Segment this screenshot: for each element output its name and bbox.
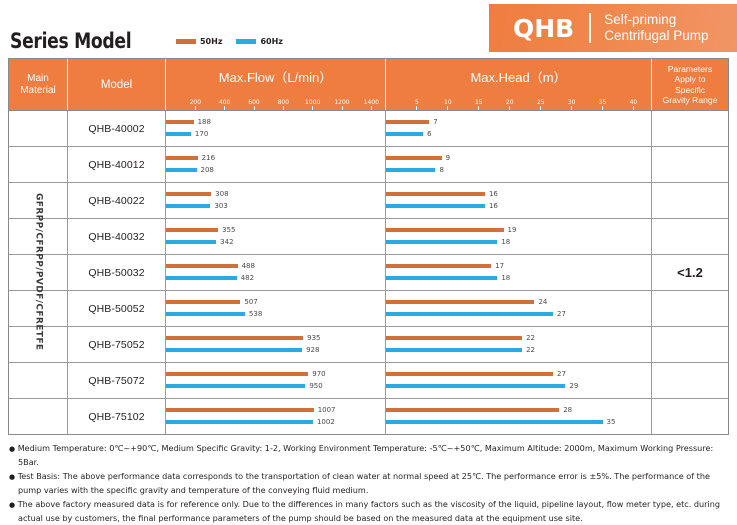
cell-max-flow: 507538	[166, 291, 386, 326]
bar-50hz-value: 9	[446, 154, 450, 162]
bar-50hz-row: 216	[166, 156, 215, 160]
axis-tick-label: 25	[528, 99, 554, 106]
cell-max-head: 2427	[386, 291, 652, 326]
bar-50hz-row: 355	[166, 228, 235, 232]
cell-model: QHB-75072	[68, 363, 166, 398]
bar-50hz	[386, 228, 504, 232]
footnote-text: The above factory measured data is for r…	[18, 499, 720, 523]
bar-60hz	[166, 168, 197, 172]
cell-model: QHB-40022	[68, 183, 166, 218]
cell-gravity-range	[652, 147, 728, 182]
bar-50hz-row: 7	[386, 120, 438, 124]
cell-max-flow: 308303	[166, 183, 386, 218]
cell-gravity-range	[652, 363, 728, 398]
bar-50hz-value: 17	[495, 262, 504, 270]
cell-max-head: 1918	[386, 219, 652, 254]
cell-gravity-range	[652, 219, 728, 254]
bar-50hz	[386, 192, 485, 196]
param-line1: Parameters	[668, 64, 712, 74]
bar-50hz-row: 17	[386, 264, 504, 268]
bar-50hz-value: 507	[244, 298, 257, 306]
axis-tick: 1000	[300, 99, 326, 110]
bar-60hz-value: 18	[501, 274, 510, 282]
bar-50hz-row: 1007	[166, 408, 336, 412]
cell-max-head: 2835	[386, 399, 652, 434]
bar-50hz-row: 935	[166, 336, 321, 340]
bar-50hz-value: 22	[526, 334, 535, 342]
bar-50hz-row: 28	[386, 408, 572, 412]
bar-50hz	[166, 300, 240, 304]
cell-max-flow: 355342	[166, 219, 386, 254]
flow-axis: Max.Flow（L/min） 200400600800100012001400	[166, 59, 385, 110]
axis-tick: 20	[497, 99, 523, 110]
cell-main-material	[9, 219, 68, 254]
cell-max-flow: 488482	[166, 255, 386, 290]
bar-60hz	[386, 348, 522, 352]
axis-tick: 800	[270, 99, 296, 110]
table-row: QHB-750529359282222	[9, 326, 728, 362]
bar-50hz	[386, 300, 534, 304]
bar-60hz-row: 538	[166, 312, 262, 316]
bar-60hz-row: 16	[386, 204, 498, 208]
legend-label-60hz: 60Hz	[260, 37, 282, 46]
axis-tick-label: 200	[182, 99, 208, 106]
table-row: QHB-500525075382427	[9, 290, 728, 326]
bar-60hz	[386, 276, 497, 280]
axis-tick: 5	[404, 99, 430, 110]
bar-60hz-value: 208	[201, 166, 214, 174]
bar-60hz-value: 303	[214, 202, 227, 210]
bar-60hz-row: 482	[166, 276, 254, 280]
bar-60hz-row: 950	[166, 384, 323, 388]
bar-50hz-row: 24	[386, 300, 547, 304]
param-line2: Apply to	[674, 74, 705, 84]
footnote-text: Medium Temperature: 0℃~+90℃, Medium Spec…	[18, 443, 713, 467]
bar-50hz-value: 188	[198, 118, 211, 126]
bar-50hz-value: 355	[222, 226, 235, 234]
bar-50hz-value: 27	[557, 370, 566, 378]
bar-50hz-value: 935	[307, 334, 320, 342]
cell-max-head: 76	[386, 111, 652, 146]
axis-tick: 1400	[358, 99, 384, 110]
bar-60hz	[166, 348, 302, 352]
head-axis-title: Max.Head（m）	[386, 67, 651, 86]
cell-gravity-range	[652, 399, 728, 434]
cell-model: QHB-40032	[68, 219, 166, 254]
legend-swatch-60hz	[236, 39, 256, 44]
bar-60hz-value: 928	[306, 346, 319, 354]
axis-tick-label: 400	[212, 99, 238, 106]
cell-max-head: 1616	[386, 183, 652, 218]
bar-60hz-value: 8	[439, 166, 443, 174]
bar-60hz-value: 35	[607, 418, 616, 426]
table-row: QHB-500324884821718	[9, 254, 728, 290]
head-axis: Max.Head（m） 510152025303540	[386, 59, 651, 110]
product-logo-banner: QHB Self-priming Centrifugal Pump	[489, 4, 737, 52]
bar-50hz	[386, 408, 559, 412]
axis-tick: 1200	[329, 99, 355, 110]
cell-model: QHB-75102	[68, 399, 166, 434]
cell-main-material	[9, 291, 68, 326]
cell-main-material	[9, 255, 68, 290]
bar-50hz-value: 216	[202, 154, 215, 162]
cell-max-flow: 216208	[166, 147, 386, 182]
bar-50hz-value: 19	[508, 226, 517, 234]
product-type-label: Self-priming Centrifugal Pump	[604, 12, 708, 44]
bar-60hz-value: 1002	[317, 418, 335, 426]
bullet-icon: ●	[9, 445, 15, 453]
axis-tick-label: 15	[466, 99, 492, 106]
cell-max-flow: 188170	[166, 111, 386, 146]
bar-50hz	[166, 120, 194, 124]
column-header-model: Model	[68, 59, 166, 110]
bar-60hz-row: 35	[386, 420, 615, 424]
bullet-icon: ●	[9, 501, 15, 509]
axis-tick: 400	[212, 99, 238, 110]
main-material-line2: Material	[20, 85, 56, 96]
cell-model: QHB-75052	[68, 327, 166, 362]
bar-50hz-row: 9	[386, 156, 450, 160]
bar-50hz-value: 24	[538, 298, 547, 306]
bar-50hz-value: 488	[242, 262, 255, 270]
bar-50hz-row: 22	[386, 336, 535, 340]
bar-60hz-row: 6	[386, 132, 432, 136]
bar-60hz-value: 342	[220, 238, 233, 246]
bar-60hz-value: 27	[557, 310, 566, 318]
legend-item-50hz: 50Hz	[176, 37, 222, 46]
bar-50hz-value: 308	[215, 190, 228, 198]
footnote-item: ● Test Basis: The above performance data…	[9, 470, 728, 496]
bar-50hz	[166, 336, 303, 340]
table-row: QHB-4001221620898	[9, 146, 728, 182]
bar-60hz	[386, 168, 435, 172]
cell-max-flow: 970950	[166, 363, 386, 398]
axis-tick-label: 10	[435, 99, 461, 106]
param-line4: Gravity Range	[663, 95, 718, 105]
bar-60hz-row: 27	[386, 312, 566, 316]
cell-model: QHB-40002	[68, 111, 166, 146]
bar-50hz	[386, 264, 491, 268]
bar-60hz	[166, 420, 313, 424]
axis-tick-label: 20	[497, 99, 523, 106]
bar-50hz-value: 970	[312, 370, 325, 378]
bar-60hz-row: 8	[386, 168, 444, 172]
footnote-text: Test Basis: The above performance data c…	[18, 471, 710, 495]
bar-50hz-row: 308	[166, 192, 229, 196]
bar-60hz-row: 303	[166, 204, 228, 208]
cell-main-material	[9, 183, 68, 218]
bar-50hz	[166, 264, 238, 268]
bar-60hz	[386, 240, 497, 244]
bar-50hz	[166, 408, 314, 412]
product-type-line1: Self-priming	[604, 12, 676, 27]
bar-60hz	[386, 384, 565, 388]
bar-50hz	[166, 372, 308, 376]
bar-50hz	[166, 228, 218, 232]
bar-50hz	[386, 372, 553, 376]
cell-gravity-range	[652, 327, 728, 362]
table-header-row: Main Material Model Max.Flow（L/min） 2004…	[9, 59, 728, 110]
bar-60hz	[386, 204, 485, 208]
frequency-legend: 50Hz 60Hz	[176, 37, 283, 46]
column-header-gravity-range: Parameters Apply to Specific Gravity Ran…	[652, 59, 728, 110]
legend-item-60hz: 60Hz	[236, 37, 282, 46]
cell-main-material	[9, 111, 68, 146]
bar-50hz-row: 507	[166, 300, 258, 304]
column-header-max-flow: Max.Flow（L/min） 200400600800100012001400	[166, 59, 386, 110]
bar-60hz	[166, 312, 245, 316]
bar-50hz	[386, 120, 429, 124]
bar-50hz	[386, 336, 522, 340]
bar-60hz-value: 170	[195, 130, 208, 138]
axis-tick: 600	[241, 99, 267, 110]
cell-main-material	[9, 363, 68, 398]
bar-60hz	[166, 132, 191, 136]
cell-max-flow: 935928	[166, 327, 386, 362]
table-row: QHB-4000218817076	[9, 110, 728, 146]
axis-tick-label: 40	[620, 99, 646, 106]
axis-tick: 30	[559, 99, 585, 110]
axis-tick: 25	[528, 99, 554, 110]
bar-50hz-row: 970	[166, 372, 326, 376]
column-header-max-head: Max.Head（m） 510152025303540	[386, 59, 652, 110]
axis-tick-label: 5	[404, 99, 430, 106]
cell-max-head: 98	[386, 147, 652, 182]
bar-60hz	[166, 204, 210, 208]
bar-60hz-value: 29	[569, 382, 578, 390]
bar-50hz-row: 19	[386, 228, 516, 232]
cell-model: QHB-50052	[68, 291, 166, 326]
footnote-item: ● The above factory measured data is for…	[9, 498, 728, 524]
footnotes: ● Medium Temperature: 0℃~+90℃, Medium Sp…	[9, 442, 728, 525]
specification-table: Main Material Model Max.Flow（L/min） 2004…	[8, 58, 729, 435]
bar-60hz-row: 928	[166, 348, 319, 352]
bar-60hz-row: 22	[386, 348, 535, 352]
table-row: QHB-75102100710022835	[9, 398, 728, 434]
table-row: QHB-400323553421918	[9, 218, 728, 254]
bar-60hz	[166, 384, 305, 388]
flow-axis-title: Max.Flow（L/min）	[166, 67, 385, 86]
cell-model: QHB-40012	[68, 147, 166, 182]
axis-tick: 40	[620, 99, 646, 110]
logo-divider	[589, 13, 591, 43]
axis-tick-label: 800	[270, 99, 296, 106]
axis-tick-label: 35	[590, 99, 616, 106]
bullet-icon: ●	[9, 473, 15, 481]
bar-50hz	[386, 156, 442, 160]
bar-60hz	[166, 276, 237, 280]
cell-model: QHB-50032	[68, 255, 166, 290]
axis-tick: 200	[182, 99, 208, 110]
cell-main-material	[9, 399, 68, 434]
axis-tick: 35	[590, 99, 616, 110]
bar-50hz-row: 188	[166, 120, 211, 124]
page-header: Series Model 50Hz 60Hz QHB Self-priming …	[0, 0, 737, 58]
bar-50hz-row: 16	[386, 192, 498, 196]
bar-60hz-row: 29	[386, 384, 578, 388]
bar-60hz-value: 950	[309, 382, 322, 390]
axis-tick: 10	[435, 99, 461, 110]
bar-50hz-value: 16	[489, 190, 498, 198]
cell-max-head: 2729	[386, 363, 652, 398]
bar-60hz-row: 18	[386, 240, 510, 244]
cell-max-flow: 10071002	[166, 399, 386, 434]
bar-60hz-row: 208	[166, 168, 214, 172]
table-body: QHB-4000218817076QHB-4001221620898QHB-40…	[9, 110, 728, 434]
axis-tick-label: 1200	[329, 99, 355, 106]
bar-60hz-value: 16	[489, 202, 498, 210]
bar-60hz-value: 538	[249, 310, 262, 318]
legend-label-50hz: 50Hz	[200, 37, 222, 46]
cell-gravity-range	[652, 111, 728, 146]
title-and-legend: Series Model 50Hz 60Hz	[10, 29, 283, 53]
bar-60hz-row: 342	[166, 240, 234, 244]
bar-60hz	[386, 312, 553, 316]
footnote-item: ● Medium Temperature: 0℃~+90℃, Medium Sp…	[9, 442, 728, 468]
cell-gravity-range	[652, 183, 728, 218]
legend-swatch-50hz	[176, 39, 196, 44]
bar-50hz	[166, 156, 198, 160]
main-material-line1: Main	[27, 73, 49, 84]
bar-60hz-value: 18	[501, 238, 510, 246]
product-type-line2: Centrifugal Pump	[604, 28, 708, 43]
axis-tick-label: 600	[241, 99, 267, 106]
bar-50hz-row: 488	[166, 264, 255, 268]
page-title: Series Model	[10, 29, 131, 53]
bar-50hz-value: 7	[433, 118, 437, 126]
brand-mark: QHB	[513, 14, 574, 43]
bar-60hz-value: 482	[241, 274, 254, 282]
cell-max-head: 1718	[386, 255, 652, 290]
bar-50hz-value: 28	[563, 406, 572, 414]
cell-gravity-range	[652, 255, 728, 290]
bar-60hz	[166, 240, 216, 244]
table-row: QHB-750729709502729	[9, 362, 728, 398]
bar-50hz	[166, 192, 211, 196]
bar-60hz-row: 170	[166, 132, 208, 136]
bar-60hz-row: 18	[386, 276, 510, 280]
cell-max-head: 2222	[386, 327, 652, 362]
bar-60hz	[386, 420, 603, 424]
axis-tick-label: 1000	[300, 99, 326, 106]
axis-tick: 15	[466, 99, 492, 110]
axis-tick-label: 30	[559, 99, 585, 106]
axis-tick-label: 1400	[358, 99, 384, 106]
bar-60hz	[386, 132, 423, 136]
column-header-main-material: Main Material	[9, 59, 68, 110]
bar-60hz-value: 22	[526, 346, 535, 354]
bar-50hz-value: 1007	[318, 406, 336, 414]
bar-50hz-row: 27	[386, 372, 566, 376]
cell-main-material	[9, 327, 68, 362]
param-line3: Specific	[675, 85, 705, 95]
cell-gravity-range	[652, 291, 728, 326]
table-row: QHB-400223083031616	[9, 182, 728, 218]
bar-60hz-row: 1002	[166, 420, 335, 424]
bar-60hz-value: 6	[427, 130, 431, 138]
cell-main-material	[9, 147, 68, 182]
